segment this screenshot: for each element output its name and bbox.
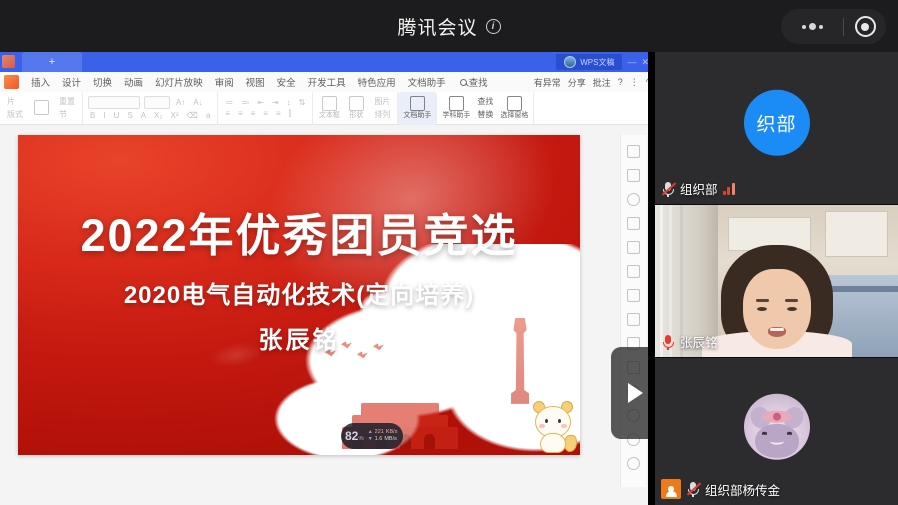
ribbon-tab-doc-assistant[interactable]: 文档助手 <box>402 75 452 89</box>
participant-column: 织部 组织部 <box>655 52 898 505</box>
document-tab-label: WPS文稿 <box>580 57 614 68</box>
network-performance-widget[interactable]: 82% ▲ 221KB/s ▼ 1.6MB/s <box>341 423 403 449</box>
history-icon[interactable] <box>627 193 640 206</box>
increase-font-icon[interactable]: A↑ <box>174 98 187 107</box>
ribbon-tab-animation[interactable]: 动画 <box>118 75 149 89</box>
slide-canvas[interactable]: 2022年优秀团员竞选 2020电气自动化技术(定向培养) 张辰铭 <box>18 135 580 455</box>
ribbon-tab-transition[interactable]: 切换 <box>87 75 118 89</box>
template-icon[interactable] <box>627 313 640 326</box>
number-list-icon[interactable]: ≕ <box>239 98 251 107</box>
wps-home-icon[interactable] <box>2 55 15 68</box>
columns-icon[interactable]: ⫿ <box>287 109 294 119</box>
selection-pane-icon <box>507 96 522 111</box>
shape-icon <box>349 96 364 111</box>
grid-icon[interactable] <box>627 241 640 254</box>
text-box-button[interactable]: 文本框 <box>318 96 340 121</box>
mic-muted-icon[interactable] <box>661 181 675 197</box>
toolbar-reset[interactable]: 重置 <box>57 96 77 107</box>
page-title: 腾讯会议 <box>397 13 477 40</box>
wps-titlebar-right: WPS文稿 — ✕ <box>556 54 649 70</box>
ribbon-tab-design[interactable]: 设计 <box>56 75 87 89</box>
toolbar-group-font: A↑ A↓ B I U S A X₂ X² ⌫ a <box>83 92 218 125</box>
help-circle-icon[interactable] <box>627 457 640 470</box>
print-icon[interactable] <box>627 217 640 230</box>
favorite-icon[interactable] <box>627 145 640 158</box>
text-box-label: 文本框 <box>319 112 340 121</box>
participant-label-2: 张辰铭 <box>661 332 718 351</box>
slide-title[interactable]: 2022年优秀团员竞选 <box>18 199 580 264</box>
selection-pane-button[interactable]: 选择窗格 <box>500 96 528 121</box>
screen-root: 腾讯会议 i + WPS文稿 — ✕ 插入 设计 <box>0 0 898 505</box>
avatar <box>564 56 576 68</box>
line-spacing-icon[interactable]: ↕ <box>285 98 293 107</box>
new-tab-button[interactable]: + <box>22 52 82 72</box>
text-box-icon <box>322 96 337 111</box>
font-family-select[interactable] <box>88 96 140 109</box>
participant-label-3: 组织部杨传金 <box>661 479 780 499</box>
ribbon-tab-slideshow[interactable]: 幻灯片放映 <box>149 75 209 89</box>
text-direction-icon[interactable]: ⇅ <box>297 98 308 107</box>
signal-bars-icon <box>723 183 735 195</box>
download-rate: ▼ 1.6MB/s <box>368 437 398 443</box>
upload-arrow-icon: ▲ <box>368 430 373 435</box>
picture-button[interactable]: 图片 <box>372 96 392 107</box>
cloud-status-label[interactable]: 有异常 <box>534 76 561 89</box>
decrease-indent-icon[interactable]: ⇤ <box>255 98 266 107</box>
highlight-button[interactable]: a <box>204 111 212 120</box>
comment-button[interactable]: 批注 <box>593 76 611 89</box>
more-dots-icon[interactable] <box>781 23 843 30</box>
ribbon-tab-view[interactable]: 视图 <box>240 75 271 89</box>
doc-assistant-button[interactable]: 文档助手 <box>403 96 431 121</box>
bullet-list-icon[interactable]: ≔ <box>223 98 235 107</box>
host-badge-icon <box>661 479 681 499</box>
participant-name: 张辰铭 <box>680 332 718 351</box>
participant-tile-3[interactable]: 组织部杨传金 <box>655 358 898 505</box>
shared-screen-area: + WPS文稿 — ✕ 插入 设计 切换 动画 幻灯片放映 审阅 视图 安全 开… <box>0 52 655 505</box>
share-button[interactable]: 分享 <box>568 76 586 89</box>
justify-icon[interactable]: ≡ <box>261 109 270 118</box>
toolbar-group-insert: 文本框 形状 图片 排列 <box>313 92 398 125</box>
shape-button[interactable]: 形状 <box>345 96 367 121</box>
toolbar-section[interactable]: 节 <box>57 109 77 120</box>
subscript-button[interactable]: X₂ <box>152 111 164 120</box>
subject-assistant-icon <box>449 96 464 111</box>
info-icon[interactable]: i <box>486 19 501 34</box>
distribute-icon[interactable]: ≡ <box>274 109 283 118</box>
subject-assistant-label: 学科助手 <box>442 112 470 121</box>
subject-assistant-button[interactable]: 学科助手 <box>442 96 470 121</box>
superscript-button[interactable]: X² <box>169 111 181 120</box>
selection-pane-label: 选择窗格 <box>500 112 528 121</box>
minimize-button[interactable]: — <box>627 57 636 67</box>
font-size-select[interactable] <box>144 96 170 109</box>
perf-score: 82% <box>345 430 364 442</box>
doc-assistant-label: 文档助手 <box>403 112 431 121</box>
bold-button[interactable]: B <box>88 111 97 120</box>
wps-title-bar: + WPS文稿 — ✕ <box>0 52 655 72</box>
chart-icon[interactable] <box>627 289 640 302</box>
upload-rate: ▲ 221KB/s <box>368 430 398 436</box>
find-button[interactable]: 查找 <box>475 96 495 107</box>
strikethrough-button[interactable]: S <box>125 111 134 120</box>
align-left-icon[interactable]: ≡ <box>223 109 232 118</box>
perf-rates: ▲ 221KB/s ▼ 1.6MB/s <box>368 430 398 442</box>
replace-button[interactable]: 替换 <box>475 109 495 120</box>
participant-name: 组织部杨传金 <box>705 480 780 499</box>
clear-format-button[interactable]: ⌫ <box>185 111 200 120</box>
app-title-bar: 腾讯会议 i <box>0 0 898 52</box>
doc-assistant-icon <box>410 96 425 111</box>
title-wrap: 腾讯会议 i <box>397 13 500 40</box>
play-icon <box>628 383 643 403</box>
increase-indent-icon[interactable]: ⇥ <box>270 98 281 107</box>
participant-tile-2[interactable]: 张辰铭 <box>655 205 898 357</box>
participant-label-1: 组织部 <box>661 179 735 198</box>
capture-icon[interactable] <box>627 265 640 278</box>
avatar: 织部 <box>744 90 810 156</box>
toolbar-doc-assistant-group: 文档助手 <box>398 92 437 125</box>
ribbon-tab-review[interactable]: 审阅 <box>209 75 240 89</box>
more-options-icon[interactable]: ⋮ <box>630 77 639 88</box>
help-icon[interactable]: ? <box>618 77 623 87</box>
participant-name: 组织部 <box>680 179 718 198</box>
ribbon-right-actions: 有异常 分享 批注 ? ⋮ ^ <box>534 76 655 89</box>
toolbar-group-slide: 片 版式 重置 节 <box>0 92 83 125</box>
wps-logo-icon <box>4 75 19 89</box>
download-arrow-icon: ▼ <box>368 437 373 442</box>
arrange-button[interactable]: 排列 <box>372 109 392 120</box>
italic-button[interactable]: I <box>101 111 107 120</box>
toolbar-section-icon[interactable] <box>30 100 52 116</box>
toolbar-layout[interactable]: 版式 <box>5 109 25 120</box>
slide-editor: 2022年优秀团员竞选 2020电气自动化技术(定向培养) 张辰铭 <box>0 125 655 505</box>
record-indicator-icon[interactable] <box>844 16 886 37</box>
mascot-sticker-icon <box>530 401 576 455</box>
ribbon-toolbar: 片 版式 重置 节 A↑ A↓ <box>0 92 655 125</box>
shape-label: 形状 <box>349 112 363 121</box>
copy-icon[interactable] <box>627 169 640 182</box>
search-icon <box>460 79 467 86</box>
ribbon-tab-developer[interactable]: 开发工具 <box>302 75 352 89</box>
ribbon-tab-featured-apps[interactable]: 特色应用 <box>352 75 402 89</box>
slide-presenter-name[interactable]: 张辰铭 <box>18 320 580 355</box>
search-label: 查找 <box>469 75 488 89</box>
mic-active-icon[interactable] <box>661 334 675 350</box>
status-pill[interactable] <box>781 9 886 44</box>
ribbon-search[interactable]: 查找 <box>452 75 488 89</box>
document-tab[interactable]: WPS文稿 <box>556 54 622 70</box>
toolbar-group-tools: 学科助手 查找 替换 选择窗格 <box>437 92 534 125</box>
text-effect-button[interactable]: A <box>139 111 148 120</box>
mic-muted-icon[interactable] <box>686 481 700 497</box>
ribbon-tab-insert[interactable]: 插入 <box>25 75 56 89</box>
ribbon-tab-security[interactable]: 安全 <box>271 75 302 89</box>
decrease-font-icon[interactable]: A↓ <box>191 98 204 107</box>
avatar <box>744 393 810 459</box>
underline-button[interactable]: U <box>112 111 122 120</box>
slide-subtitle[interactable]: 2020电气自动化技术(定向培养) <box>18 275 580 310</box>
toolbar-new-slide[interactable]: 片 <box>5 96 25 107</box>
ribbon-tab-bar: 插入 设计 切换 动画 幻灯片放映 审阅 视图 安全 开发工具 特色应用 文档助… <box>0 72 655 92</box>
participant-tile-1[interactable]: 织部 组织部 <box>655 52 898 204</box>
slide-background: 2022年优秀团员竞选 2020电气自动化技术(定向培养) 张辰铭 <box>18 135 580 455</box>
align-right-icon[interactable]: ≡ <box>249 109 258 118</box>
align-center-icon[interactable]: ≡ <box>236 109 245 118</box>
toolbar-group-paragraph: ≔ ≕ ⇤ ⇥ ↕ ⇅ ≡ ≡ ≡ ≡ ≡ ⫿ <box>218 92 313 125</box>
